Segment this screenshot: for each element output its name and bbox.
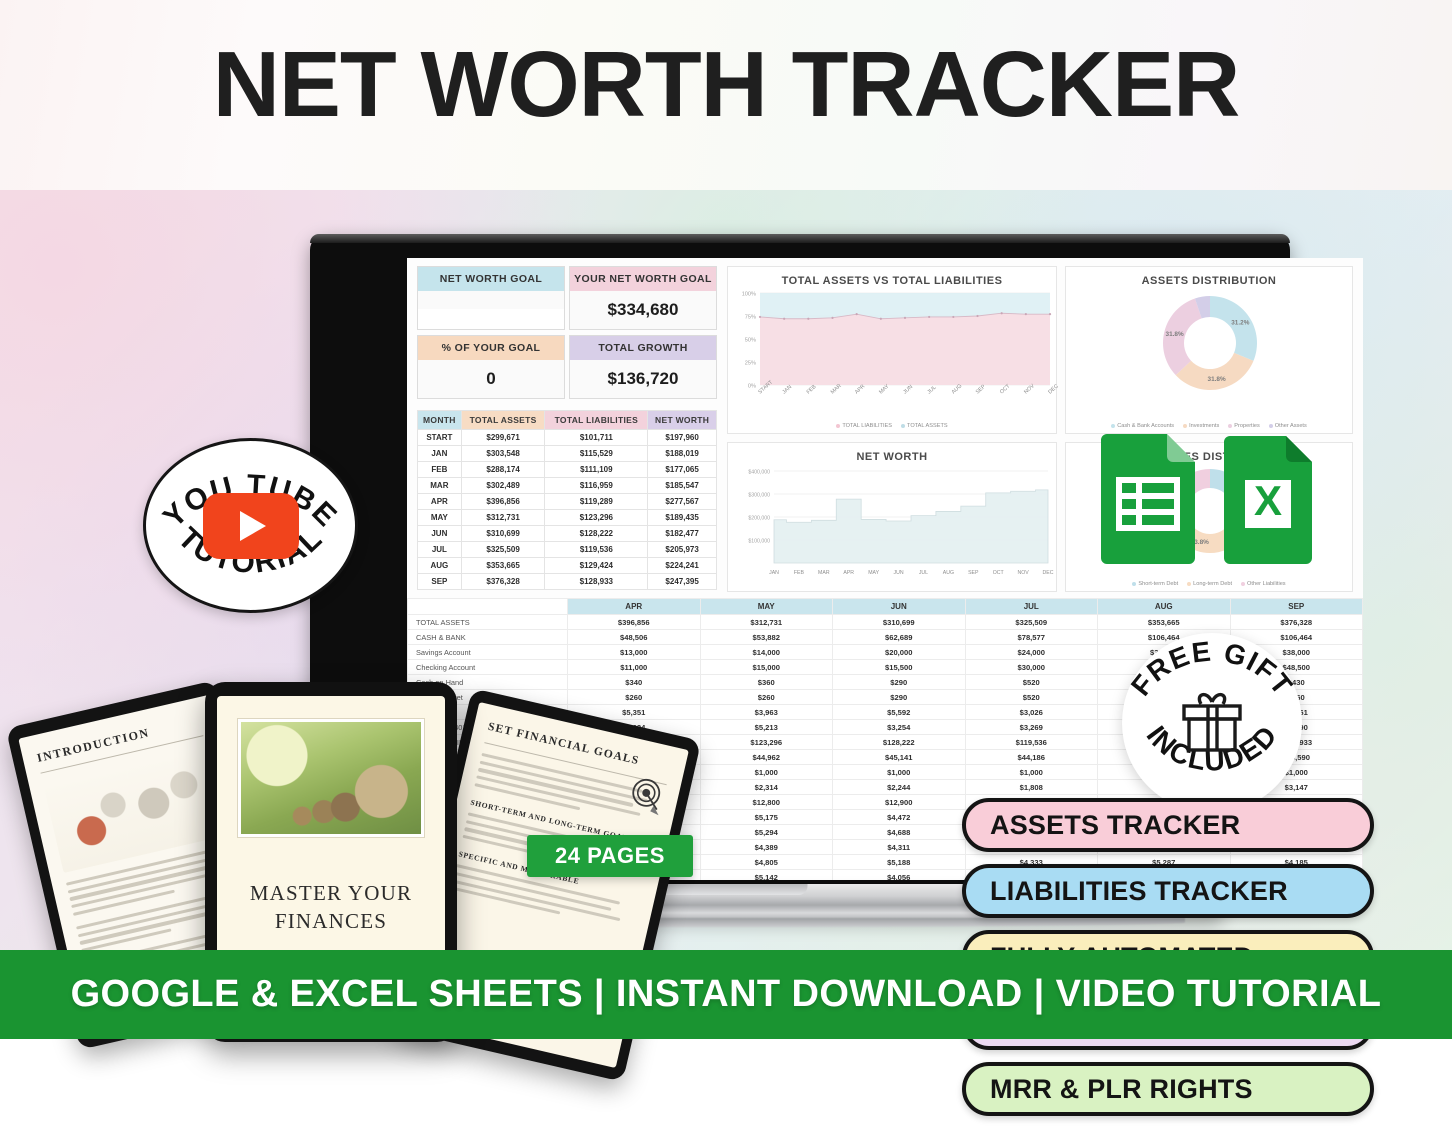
table-cell: $302,489 [461,478,545,494]
table-cell: $520 [965,690,1098,705]
table-cell: $30,000 [965,660,1098,675]
table-cell: $312,731 [700,615,833,630]
table-cell: $4,472 [833,810,966,825]
table-cell: $5,213 [700,720,833,735]
goal-cell-right: YOUR NET WORTH GOAL $334,680 [569,266,717,330]
table-cell: $376,328 [461,574,545,590]
goal-value: 0 [418,360,564,398]
legend-item: Other Liabilities [1241,581,1286,587]
donut-slice-label: 31.8% [1166,331,1184,338]
table-cell: $353,665 [461,558,545,574]
table-header-cell: TOTAL ASSETS [461,411,545,430]
table-cell: $353,665 [1098,615,1231,630]
table-cell: $520 [965,675,1098,690]
table-cell: $14,000 [700,645,833,660]
table-header-cell: NET WORTH [648,411,717,430]
table-cell: $396,856 [461,494,545,510]
table-cell: $128,933 [545,574,648,590]
chart-title: ASSETS DISTRIBUTION [1066,267,1352,287]
table-cell: $1,000 [833,765,966,780]
table-header-cell: MAY [700,599,833,615]
legend-label: Properties [1234,423,1260,429]
x-axis-tick: FEB [794,570,805,576]
goal-row: NET WORTH GOAL YOUR NET WORTH GOAL $334,… [417,266,717,330]
goal-head-label: NET WORTH GOAL [418,267,564,291]
table-cell: $129,424 [545,558,648,574]
monthly-net-worth-table: MONTHTOTAL ASSETSTOTAL LIABILITIESNET WO… [417,410,717,590]
y-axis-tick: $300,000 [748,492,770,498]
table-cell: $78,577 [965,630,1098,645]
table-cell: START [418,430,462,446]
document-heading: SET FINANCIAL GOALS [487,721,672,775]
table-cell: $123,296 [700,735,833,750]
legend-label: Other Liabilities [1247,581,1286,587]
table-row-label: CASH & BANK [408,630,568,645]
x-axis-tick: JUN [893,570,903,576]
goal-value: $136,720 [570,360,716,398]
x-axis-tick: MAR [818,570,830,576]
chart-canvas: 0%25%50%75%100% STARTJANFEBMARAPRMAYJUNJ… [728,289,1058,417]
table-cell: $4,056 [833,870,966,881]
excel-icon: X [1218,430,1316,570]
table-cell: $2,244 [833,780,966,795]
table-header-cell: TOTAL LIABILITIES [545,411,648,430]
ebook-title-line1: MASTER YOUR [250,880,412,908]
free-gift-badge[interactable]: FREE GIFT INCLUDED [1122,633,1302,813]
table-header-row: MONTHTOTAL ASSETSTOTAL LIABILITIESNET WO… [418,411,717,430]
table-row-label: Checking Account [408,660,568,675]
chart-net-worth: NET WORTH $100,000$200,000$300,000$400,0… [727,442,1057,592]
legend-swatch [1187,582,1191,586]
table-cell: AUG [418,558,462,574]
chart-title: TOTAL ASSETS VS TOTAL LIABILITIES [728,267,1056,287]
table-cell: $128,222 [545,526,648,542]
pages-count-badge: 24 PAGES [527,835,693,877]
table-cell: SEP [418,574,462,590]
x-axis-tick: JUN [902,384,914,396]
table-cell: $277,567 [648,494,717,510]
legend-label: TOTAL LIABILITIES [842,423,892,429]
legend-swatch [1269,424,1273,428]
table-cell: $325,509 [461,542,545,558]
legend-item: TOTAL ASSETS [901,423,948,429]
table-cell: $119,289 [545,494,648,510]
chart-legend: TOTAL LIABILITIES TOTAL ASSETS [728,423,1056,429]
y-axis-tick: $200,000 [748,515,770,521]
table-cell: APR [418,494,462,510]
table-cell: $5,592 [833,705,966,720]
table-cell: $310,699 [461,526,545,542]
table-cell: $5,188 [833,855,966,870]
table-cell: $3,963 [700,705,833,720]
table-cell: $197,960 [648,430,717,446]
legend-label: TOTAL ASSETS [907,423,948,429]
table-cell: $3,026 [965,705,1098,720]
goal-row: % OF YOUR GOAL 0 TOTAL GROWTH $136,720 [417,335,717,399]
table-cell: $299,671 [461,430,545,446]
legend-label: Long-term Debt [1193,581,1232,587]
legend-label: Other Assets [1275,423,1307,429]
x-axis-tick: OCT [993,570,1005,576]
page-title: NET WORTH TRACKER [0,38,1452,131]
net-worth-goal-cards: NET WORTH GOAL YOUR NET WORTH GOAL $334,… [417,266,717,404]
table-row: TOTAL ASSETS$396,856$312,731$310,699$325… [408,615,1363,630]
table-cell: $290 [833,675,966,690]
table-header-cell: JUL [965,599,1098,615]
table-cell: $123,296 [545,510,648,526]
google-sheets-icon [1095,428,1201,570]
table-cell: MAR [418,478,462,494]
table-cell: $12,800 [700,795,833,810]
y-axis-tick: $100,000 [748,538,770,544]
y-axis-tick: 100% [742,291,756,297]
donut-slice [1210,296,1257,361]
table-cell: $5,175 [700,810,833,825]
x-axis-tick: FEB [806,384,818,396]
table-header-cell: AUG [1098,599,1231,615]
x-axis-tick: APR [843,570,854,576]
table-header-cell: APR [568,599,701,615]
table-row-label: TOTAL ASSETS [408,615,568,630]
table-cell: $310,699 [833,615,966,630]
ebook-cover-image [237,718,425,838]
chart-legend: Short-term DebtLong-term DebtOther Liabi… [1066,581,1352,587]
table-cell: $188,019 [648,446,717,462]
table-cell: $119,536 [965,735,1098,750]
x-axis-tick: NOV [1017,570,1029,576]
goal-value [418,291,564,309]
legend-swatch [1132,582,1136,586]
table-cell: $260 [700,690,833,705]
table-cell: $4,389 [700,840,833,855]
table-cell: $396,856 [568,615,701,630]
table-cell: $45,141 [833,750,966,765]
legend-item: TOTAL LIABILITIES [836,423,892,429]
table-cell: $128,222 [833,735,966,750]
legend-swatch [1241,582,1245,586]
table-cell: $247,395 [648,574,717,590]
table-cell: $288,174 [461,462,545,478]
y-axis-tick: 0% [748,383,756,389]
x-axis-tick: MAY [868,570,879,576]
table-cell: $5,294 [700,825,833,840]
y-axis-tick: 75% [745,314,756,320]
table-header-cell: MONTH [418,411,462,430]
goal-cell-left: NET WORTH GOAL [417,266,565,330]
table-row: JAN$303,548$115,529$188,019 [418,446,717,462]
goal-value: $334,680 [570,291,716,329]
donut-canvas: 31.2%31.8%31.8% [1066,287,1354,405]
ebook-title: MASTER YOUR FINANCES [250,880,412,935]
table-cell: $185,547 [648,478,717,494]
table-cell: $44,186 [965,750,1098,765]
table-cell: $11,000 [568,660,701,675]
chart-title: NET WORTH [728,443,1056,463]
x-axis-tick: JAN [781,384,793,395]
table-cell: $62,689 [833,630,966,645]
goal-cell-left: % OF YOUR GOAL 0 [417,335,565,399]
gift-box-icon [1175,688,1249,758]
table-cell: $177,065 [648,462,717,478]
table-row: FEB$288,174$111,109$177,065 [418,462,717,478]
chart-assets-distribution: ASSETS DISTRIBUTION 31.2%31.8%31.8% Cash… [1065,266,1353,434]
target-icon [622,772,670,820]
feature-pill-liabilities-tracker: LIABILITIES TRACKER [962,864,1374,918]
table-cell: $53,882 [700,630,833,645]
table-cell: $15,500 [833,660,966,675]
table-cell: $20,000 [833,645,966,660]
table-cell: $312,731 [461,510,545,526]
table-cell: $4,311 [833,840,966,855]
table-header-cell: JUN [833,599,966,615]
goal-head-label: TOTAL GROWTH [570,336,716,360]
feature-pill-mrr-plr-rights: MRR & PLR RIGHTS [962,1062,1374,1116]
table-row-label: Savings Account [408,645,568,660]
table-cell: $376,328 [1230,615,1363,630]
table-cell: $24,000 [965,645,1098,660]
legend-item: Short-term Debt [1132,581,1178,587]
legend-item: Other Assets [1269,423,1307,429]
table-cell: $44,962 [700,750,833,765]
table-cell: JUN [418,526,462,542]
goal-head-label: YOUR NET WORTH GOAL [570,267,716,291]
y-axis-tick: $400,000 [748,469,770,475]
donut-slice-label: 31.8% [1208,376,1226,383]
table-cell: $189,435 [648,510,717,526]
table-header-cell [408,599,568,615]
bottom-banner-text: GOOGLE & EXCEL SHEETS | INSTANT DOWNLOAD… [71,973,1382,1016]
table-cell: $340 [568,675,701,690]
table-cell: $115,529 [545,446,648,462]
ebook-title-line2: FINANCES [250,908,412,936]
table-cell: JAN [418,446,462,462]
goal-cell-right: TOTAL GROWTH $136,720 [569,335,717,399]
table-cell: $325,509 [965,615,1098,630]
table-row: START$299,671$101,711$197,960 [418,430,717,446]
table-row: JUN$310,699$128,222$182,477 [418,526,717,542]
table-cell: $12,900 [833,795,966,810]
table-cell: $15,000 [700,660,833,675]
table-row: MAR$302,489$116,959$185,547 [418,478,717,494]
donut-slice-label: 31.2% [1231,320,1249,327]
bottom-banner: GOOGLE & EXCEL SHEETS | INSTANT DOWNLOAD… [0,950,1452,1039]
table-cell: $2,314 [700,780,833,795]
y-axis-tick: 50% [745,337,756,343]
y-axis-tick: 25% [745,360,756,366]
hero-stage: NET WORTH GOAL YOUR NET WORTH GOAL $334,… [0,190,1452,950]
table-cell: MAY [418,510,462,526]
x-axis-tick: JAN [769,570,779,576]
table-cell: JUL [418,542,462,558]
table-cell: $205,973 [648,542,717,558]
x-axis-tick: JUL [919,570,928,576]
youtube-tutorial-badge[interactable]: YOU TUBE TUTORIAL [143,438,358,613]
table-row: SEP$376,328$128,933$247,395 [418,574,717,590]
legend-item: Properties [1228,423,1260,429]
table-cell: $290 [833,690,966,705]
legend-swatch [1228,424,1232,428]
table-cell: $3,269 [965,720,1098,735]
excel-icon-letter: X [1254,477,1282,524]
legend-label: Short-term Debt [1138,581,1178,587]
goal-head-label: % OF YOUR GOAL [418,336,564,360]
table-cell: $13,000 [568,645,701,660]
table-cell: $101,711 [545,430,648,446]
table-cell: $119,536 [545,542,648,558]
table-cell: $111,109 [545,462,648,478]
table-cell: $1,000 [965,765,1098,780]
table-row: AUG$353,665$129,424$224,241 [418,558,717,574]
chart-total-assets-vs-liabilities: TOTAL ASSETS VS TOTAL LIABILITIES 0%25%5… [727,266,1057,434]
table-cell: $182,477 [648,526,717,542]
table-header-row: APRMAYJUNJULAUGSEP [408,599,1363,615]
table-cell: $360 [700,675,833,690]
table-cell: FEB [418,462,462,478]
youtube-play-icon[interactable] [203,493,299,559]
feature-pill-assets-tracker: ASSETS TRACKER [962,798,1374,852]
table-row: APR$396,856$119,289$277,567 [418,494,717,510]
table-cell: $3,254 [833,720,966,735]
table-cell: $303,548 [461,446,545,462]
table-cell: $1,808 [965,780,1098,795]
header-band: NET WORTH TRACKER [0,0,1452,190]
table-row: JUL$325,509$119,536$205,973 [418,542,717,558]
table-cell: $260 [568,690,701,705]
x-axis-tick: JUL [926,385,937,396]
table-cell: $5,142 [700,870,833,881]
table-header-cell: SEP [1230,599,1363,615]
table-cell: $4,805 [700,855,833,870]
x-axis-tick: DEC [1043,570,1054,576]
legend-item: Long-term Debt [1187,581,1232,587]
x-axis-tick: AUG [943,570,954,576]
chart-canvas: $100,000$200,000$300,000$400,000 JANFEBM… [728,467,1058,585]
x-axis-tick: SEP [968,570,979,576]
table-cell: $4,688 [833,825,966,840]
table-cell: $1,000 [700,765,833,780]
table-cell: $48,506 [568,630,701,645]
table-row: MAY$312,731$123,296$189,435 [418,510,717,526]
table-cell: $116,959 [545,478,648,494]
table-cell: $224,241 [648,558,717,574]
